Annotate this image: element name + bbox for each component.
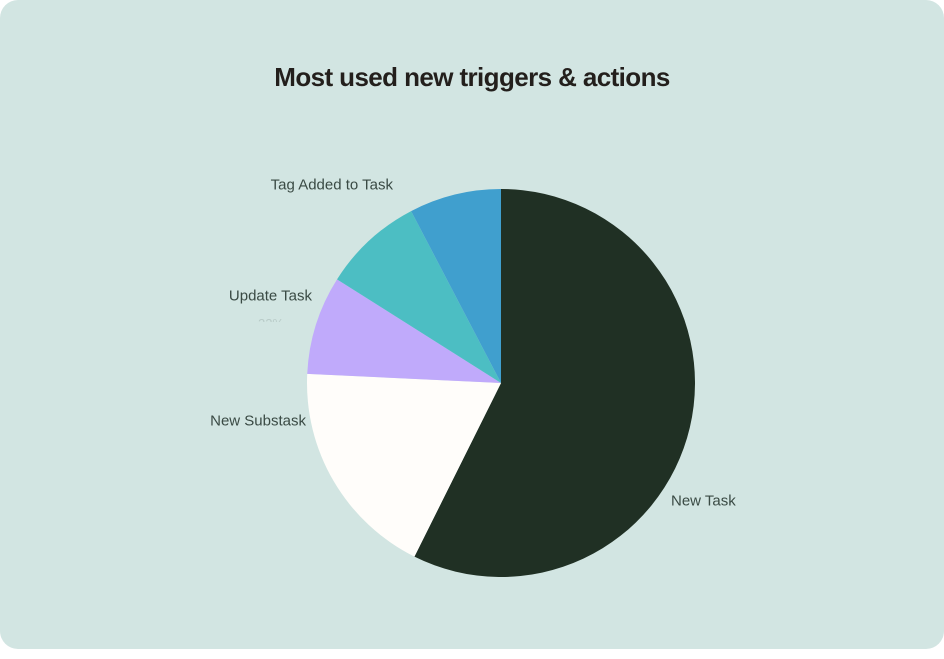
pie-label-new-task: New Task [671,493,736,510]
pie-label-update-task-percent-clipped: 22% [258,314,284,322]
pie-label-update-task: Update Task [229,288,312,305]
pie-chart: New Task New Substask Update Task 22% Ta… [0,0,944,649]
pie-label-new-substask: New Substask [210,413,306,430]
pie-label-tag-added-to-task: Tag Added to Task [271,177,393,194]
pie-slice-group [307,189,695,577]
pie-chart-svg [0,0,944,649]
chart-card: Most used new triggers & actions New Tas… [0,0,944,649]
